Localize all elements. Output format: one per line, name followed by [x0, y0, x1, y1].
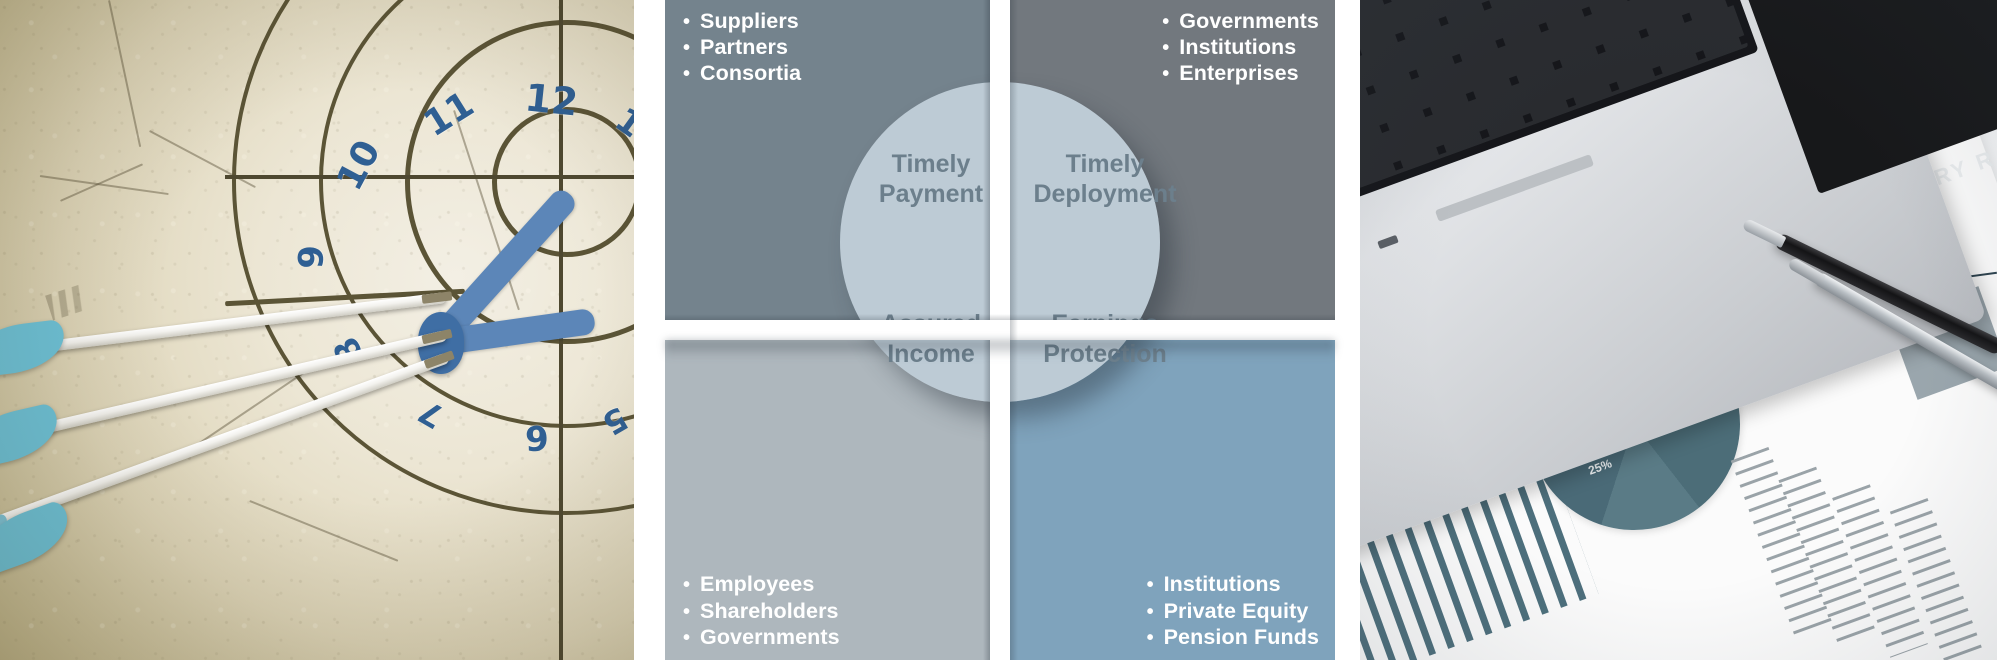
bullet-list-bottom-right: Institutions Private Equity Pension Fund…	[1147, 571, 1319, 650]
list-item: Shareholders	[683, 598, 840, 624]
list-item: Partners	[683, 34, 801, 60]
list-item: Institutions	[1162, 34, 1319, 60]
bullet-list-bottom-left: Employees Shareholders Governments	[683, 571, 840, 650]
vertical-gap-shadow	[1010, 0, 1018, 660]
list-item: Enterprises	[1162, 60, 1319, 86]
list-item: Pension Funds	[1147, 624, 1319, 650]
list-item: Private Equity	[1147, 598, 1319, 624]
list-item: Governments	[1162, 8, 1319, 34]
list-item: Institutions	[1147, 571, 1319, 597]
list-item: Employees	[683, 571, 840, 597]
center-label-line2: Deployment	[1005, 180, 1205, 210]
left-photo-target-clock: 12 1 2 3 4 5 6 7 8 9 10 11	[0, 0, 634, 660]
horizontal-gap-divider	[665, 320, 1335, 340]
quadrant-diagram: Suppliers Partners Consortia Governments…	[665, 0, 1335, 660]
bullet-list-top-left: Suppliers Partners Consortia	[683, 8, 801, 87]
list-item: Governments	[683, 624, 840, 650]
list-item: Consortia	[683, 60, 801, 86]
photo-vignette	[0, 0, 634, 660]
screenshot-stage: 12 1 2 3 4 5 6 7 8 9 10 11	[0, 0, 1997, 660]
list-item: Suppliers	[683, 8, 801, 34]
center-label-line1: Timely	[1005, 150, 1205, 180]
center-label-timely-deployment: Timely Deployment	[1005, 150, 1205, 209]
photo-vignette	[1360, 0, 1997, 660]
right-photo-laptop-reports: SUMMARY R 35% 25% 15% 10% 5% 7% DISTANCE…	[1360, 0, 1997, 660]
bullet-list-top-right: Governments Institutions Enterprises	[1162, 8, 1319, 87]
